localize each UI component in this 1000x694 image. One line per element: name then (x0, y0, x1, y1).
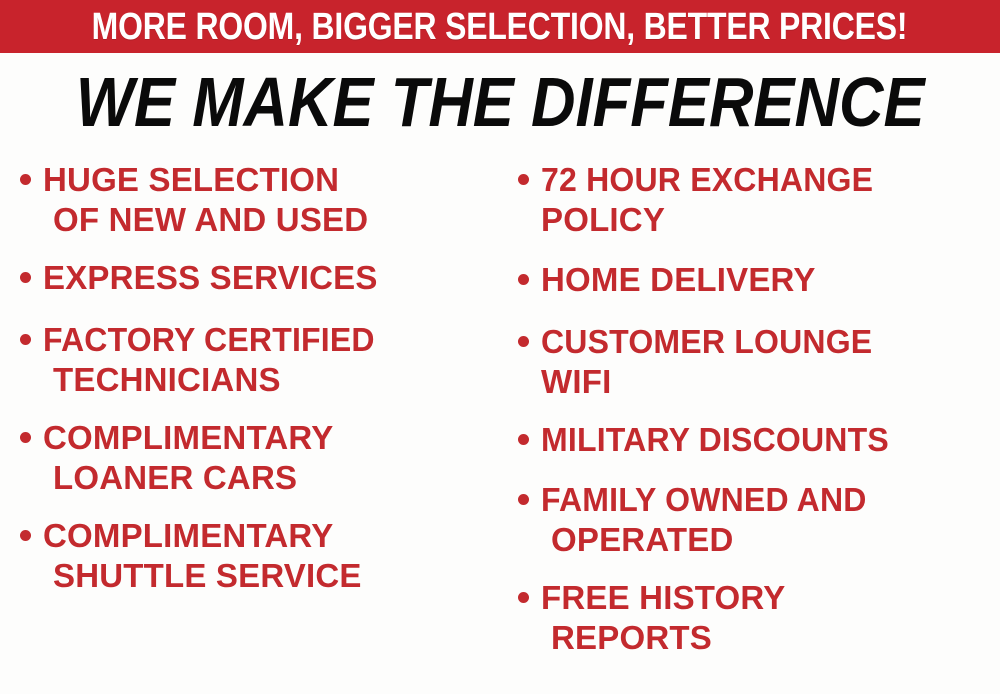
list-item: FAMILY OWNED AND OPERATED (518, 480, 1000, 560)
banner-headline: MORE ROOM, BIGGER SELECTION, BETTER PRIC… (92, 8, 908, 46)
top-banner: MORE ROOM, BIGGER SELECTION, BETTER PRIC… (0, 0, 1000, 53)
list-item-text: EXPRESS SERVICES (43, 258, 520, 298)
list-item-line-1: MILITARY DISCOUNTS (541, 420, 1000, 460)
list-item-text: HOME DELIVERY (541, 260, 1000, 300)
list-item: EXPRESS SERVICES (20, 258, 520, 298)
list-item: FREE HISTORY REPORTS (518, 578, 1000, 658)
list-item: CUSTOMER LOUNGE WIFI (518, 322, 1000, 402)
list-item-line-2: WIFI (541, 362, 1000, 402)
benefits-columns: HUGE SELECTION OF NEW AND USED EXPRESS S… (0, 160, 1000, 694)
list-item-line-1: FREE HISTORY (541, 578, 1000, 618)
bullet-dot-icon (518, 274, 529, 285)
list-item-text: 72 HOUR EXCHANGE POLICY (541, 160, 1000, 240)
bullet-dot-icon (518, 174, 529, 185)
list-item-text: FREE HISTORY REPORTS (541, 578, 1000, 658)
bullet-dot-icon (20, 334, 31, 345)
list-item-text: CUSTOMER LOUNGE WIFI (541, 322, 1000, 402)
benefits-column-left: HUGE SELECTION OF NEW AND USED EXPRESS S… (20, 160, 520, 610)
list-item-line-2: OPERATED (541, 520, 1000, 560)
list-item: COMPLIMENTARY SHUTTLE SERVICE (20, 516, 520, 596)
list-item-text: FAMILY OWNED AND OPERATED (541, 480, 1000, 560)
list-item-line-2: SHUTTLE SERVICE (43, 556, 520, 596)
list-item-text: MILITARY DISCOUNTS (541, 420, 1000, 460)
benefits-column-right: 72 HOUR EXCHANGE POLICY HOME DELIVERY CU… (518, 160, 1000, 672)
list-item-line-1: EXPRESS SERVICES (43, 258, 520, 298)
list-item-text: HUGE SELECTION OF NEW AND USED (43, 160, 520, 240)
list-item: HUGE SELECTION OF NEW AND USED (20, 160, 520, 240)
bullet-dot-icon (20, 530, 31, 541)
list-item-line-1: HOME DELIVERY (541, 260, 1000, 300)
list-item-text: FACTORY CERTIFIED TECHNICIANS (43, 320, 520, 400)
list-item-line-2: LOANER CARS (43, 458, 520, 498)
advertisement-poster: MORE ROOM, BIGGER SELECTION, BETTER PRIC… (0, 0, 1000, 694)
list-item: MILITARY DISCOUNTS (518, 420, 1000, 460)
bullet-dot-icon (20, 174, 31, 185)
list-item-line-2: POLICY (541, 200, 1000, 240)
list-item-text: COMPLIMENTARY SHUTTLE SERVICE (43, 516, 520, 596)
list-item-line-2: OF NEW AND USED (43, 200, 520, 240)
list-item-line-1: HUGE SELECTION (43, 160, 520, 200)
list-item: 72 HOUR EXCHANGE POLICY (518, 160, 1000, 240)
list-item-line-2: REPORTS (541, 618, 1000, 658)
list-item-line-2: TECHNICIANS (43, 360, 520, 400)
bullet-dot-icon (20, 432, 31, 443)
page-title: WE MAKE THE DIFFERENCE (76, 67, 925, 137)
headline-container: WE MAKE THE DIFFERENCE (0, 62, 1000, 142)
list-item-line-1: FAMILY OWNED AND (541, 480, 1000, 520)
list-item-line-1: FACTORY CERTIFIED (43, 320, 506, 360)
list-item: COMPLIMENTARY LOANER CARS (20, 418, 520, 498)
bullet-dot-icon (518, 336, 529, 347)
bullet-dot-icon (518, 592, 529, 603)
bullet-dot-icon (518, 494, 529, 505)
list-item-line-1: CUSTOMER LOUNGE (541, 322, 1000, 362)
bullet-dot-icon (518, 434, 529, 445)
list-item-line-1: COMPLIMENTARY (43, 418, 520, 458)
list-item-line-1: COMPLIMENTARY (43, 516, 520, 556)
list-item: HOME DELIVERY (518, 260, 1000, 300)
list-item-line-1: 72 HOUR EXCHANGE (541, 160, 1000, 200)
bullet-dot-icon (20, 272, 31, 283)
list-item-text: COMPLIMENTARY LOANER CARS (43, 418, 520, 498)
list-item: FACTORY CERTIFIED TECHNICIANS (20, 320, 520, 400)
